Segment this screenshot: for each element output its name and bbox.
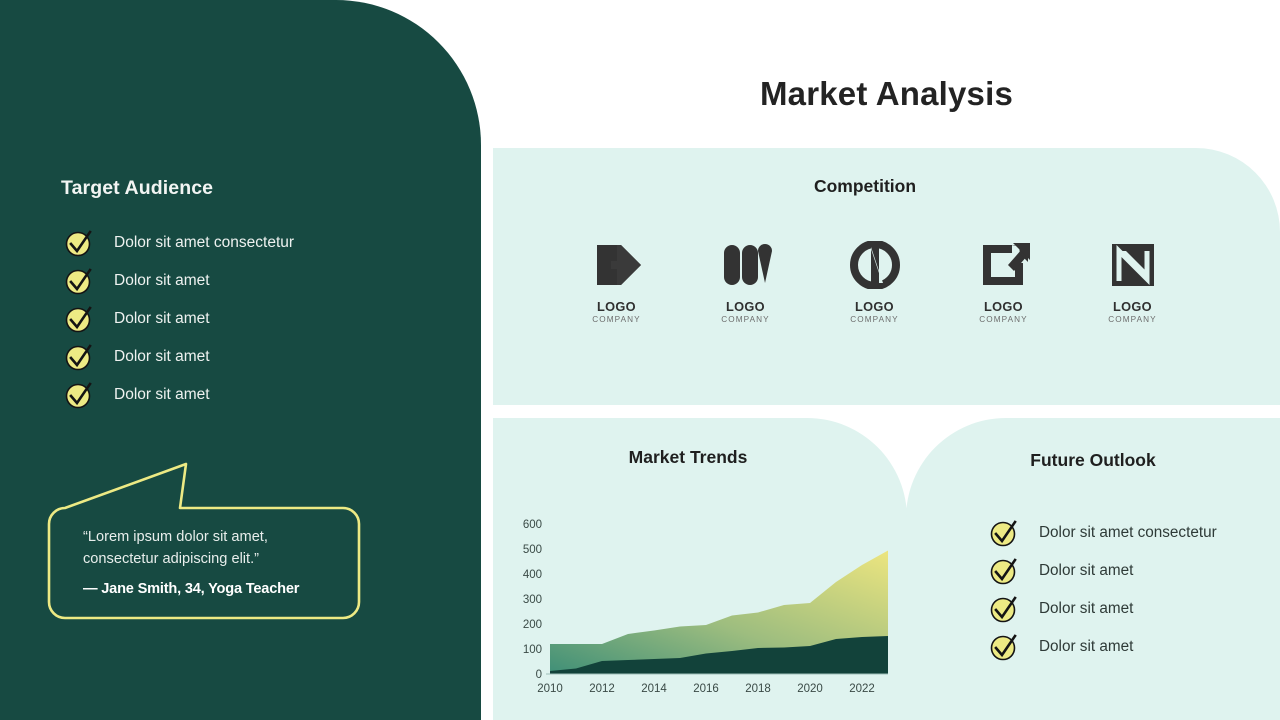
list-item-label: Dolor sit amet consectetur [114, 234, 294, 252]
testimonial-author: — Jane Smith, 34, Yoga Teacher [83, 581, 345, 597]
slide-root: Target Audience Dolor sit amet consectet… [0, 0, 1280, 720]
check-circle-icon [63, 266, 97, 296]
check-circle-icon [988, 556, 1022, 586]
list-item-label: Dolor sit amet [114, 348, 210, 366]
market-trends-panel: Market Trends 0100200300400500600 201020… [493, 418, 907, 720]
target-audience-title: Target Audience [61, 177, 213, 200]
check-circle-icon [988, 632, 1022, 662]
chart-y-tick-label: 500 [523, 544, 542, 556]
testimonial-quote-line-1: “Lorem ipsum dolor sit amet, [83, 526, 345, 548]
competitor-logo-sub: COMPANY [850, 315, 899, 324]
chart-x-tick-label: 2022 [849, 683, 875, 695]
list-item-label: Dolor sit amet [1039, 600, 1133, 618]
list-item-label: Dolor sit amet consectetur [1039, 524, 1217, 542]
check-circle-icon [63, 228, 97, 258]
future-outlook-title: Future Outlook [906, 450, 1280, 471]
chart-x-tick-label: 2016 [693, 683, 719, 695]
upload-arrow-logo-icon [978, 239, 1030, 291]
chart-x-tick-label: 2014 [641, 683, 667, 695]
competitor-logo-item[interactable]: LOGO COMPANY [576, 239, 658, 324]
list-item[interactable]: Dolor sit amet consectetur [63, 224, 443, 262]
list-item-label: Dolor sit amet [1039, 638, 1133, 656]
play-arrow-logo-icon [591, 239, 643, 291]
competitor-logo-name: LOGO [984, 299, 1023, 314]
chart-x-axis-labels: 2010201220142016201820202022 [537, 683, 875, 695]
competition-panel: Competition LOGO COMPANY [493, 148, 1280, 405]
competitor-logo-sub: COMPANY [592, 315, 641, 324]
competitor-logo-name: LOGO [597, 299, 636, 314]
future-outlook-list: Dolor sit amet consectetur Dolor sit ame… [988, 514, 1278, 666]
circle-slash-logo-icon [849, 239, 901, 291]
chart-x-tick-label: 2018 [745, 683, 771, 695]
chart-x-tick-label: 2020 [797, 683, 823, 695]
list-item[interactable]: Dolor sit amet [988, 628, 1278, 666]
list-item-label: Dolor sit amet [114, 310, 210, 328]
competitor-logo-sub: COMPANY [721, 315, 770, 324]
list-item[interactable]: Dolor sit amet [988, 590, 1278, 628]
check-circle-icon [988, 518, 1022, 548]
competition-title: Competition [493, 176, 1237, 197]
target-audience-list: Dolor sit amet consectetur Dolor sit ame… [63, 224, 443, 414]
chart-x-tick-label: 2010 [537, 683, 563, 695]
competitor-logo-name: LOGO [855, 299, 894, 314]
list-item-label: Dolor sit amet [114, 386, 210, 404]
competitor-logo-item[interactable]: LOGO COMPANY [1092, 239, 1174, 324]
chart-y-tick-label: 600 [523, 519, 542, 531]
check-circle-icon [63, 342, 97, 372]
testimonial-bubble: “Lorem ipsum dolor sit amet, consectetur… [45, 458, 365, 624]
chart-y-tick-label: 0 [536, 669, 542, 681]
list-item[interactable]: Dolor sit amet [988, 552, 1278, 590]
competitor-logo-sub: COMPANY [1108, 315, 1157, 324]
square-n-logo-icon [1107, 239, 1159, 291]
competitor-logo-sub: COMPANY [979, 315, 1028, 324]
market-trends-title: Market Trends [493, 447, 883, 468]
chart-y-tick-label: 100 [523, 644, 542, 656]
competitor-logo-item[interactable]: LOGO COMPANY [705, 239, 787, 324]
competitor-logo-item[interactable]: LOGO COMPANY [834, 239, 916, 324]
list-item-label: Dolor sit amet [1039, 562, 1133, 580]
list-item[interactable]: Dolor sit amet [63, 376, 443, 414]
list-item[interactable]: Dolor sit amet [63, 338, 443, 376]
chart-y-tick-label: 300 [523, 594, 542, 606]
chart-y-tick-label: 200 [523, 619, 542, 631]
check-circle-icon [988, 594, 1022, 624]
list-item[interactable]: Dolor sit amet [63, 300, 443, 338]
competitor-logo-item[interactable]: LOGO COMPANY [963, 239, 1045, 324]
list-item-label: Dolor sit amet [114, 272, 210, 290]
double-w-logo-icon [720, 239, 772, 291]
testimonial-content: “Lorem ipsum dolor sit amet, consectetur… [83, 526, 345, 597]
competitor-logo-name: LOGO [1113, 299, 1152, 314]
competitor-logo-row: LOGO COMPANY LOGO COMPANY [493, 239, 1256, 324]
chart-x-tick-label: 2012 [589, 683, 615, 695]
check-circle-icon [63, 380, 97, 410]
target-audience-panel: Target Audience Dolor sit amet consectet… [0, 0, 481, 720]
market-trends-chart: 0100200300400500600 20102012201420162018… [502, 514, 902, 704]
check-circle-icon [63, 304, 97, 334]
competitor-logo-name: LOGO [726, 299, 765, 314]
testimonial-quote-line-2: consectetur adipiscing elit.” [83, 548, 345, 570]
stacked-area-chart: 0100200300400500600 20102012201420162018… [502, 514, 902, 704]
page-title: Market Analysis [493, 75, 1280, 113]
future-outlook-panel: Future Outlook Dolor sit amet consectetu… [906, 418, 1280, 720]
list-item[interactable]: Dolor sit amet [63, 262, 443, 300]
list-item[interactable]: Dolor sit amet consectetur [988, 514, 1278, 552]
chart-y-tick-label: 400 [523, 569, 542, 581]
chart-y-axis-labels: 0100200300400500600 [523, 519, 542, 681]
